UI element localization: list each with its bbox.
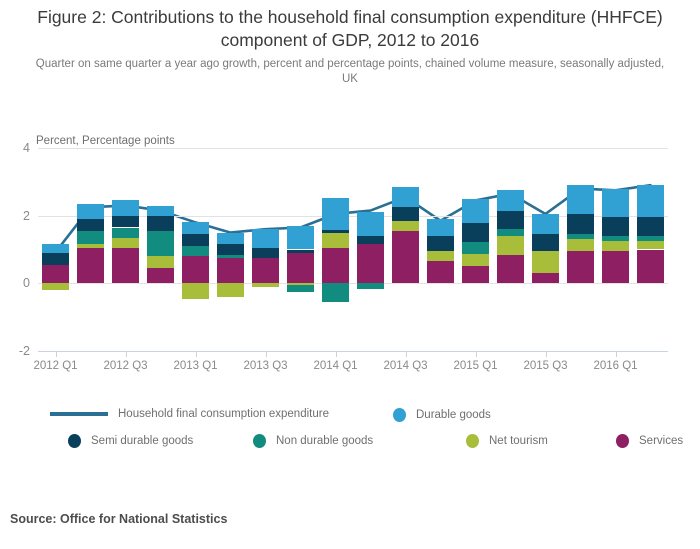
bar-segment: [497, 211, 524, 230]
legend-item[interactable]: Services: [616, 434, 683, 448]
bar-segment: [147, 206, 174, 216]
bar-segment: [147, 268, 174, 283]
bar-segment: [182, 222, 209, 234]
legend-label: Household final consumption expenditure: [118, 408, 329, 420]
bar-segment: [322, 230, 349, 233]
bar-segment: [112, 200, 139, 215]
bar-column[interactable]: [77, 148, 104, 351]
bar-segment: [42, 244, 69, 252]
bar-segment: [567, 214, 594, 234]
x-tick-mark: [56, 351, 57, 357]
bar-segment: [77, 231, 104, 245]
bar-segment: [322, 283, 349, 302]
bar-segment: [147, 216, 174, 231]
bar-segment: [567, 239, 594, 251]
x-tick-mark: [406, 351, 407, 357]
bar-segment: [112, 228, 139, 238]
bar-column[interactable]: [567, 148, 594, 351]
legend-dot-swatch-icon: [393, 408, 406, 422]
legend-label: Net tourism: [489, 435, 548, 447]
x-tick-label: 2014 Q3: [383, 360, 427, 372]
bar-segment: [532, 251, 559, 273]
bar-column[interactable]: [602, 148, 629, 351]
bar-segment: [252, 248, 279, 258]
bar-segment: [112, 216, 139, 228]
bar-segment: [112, 248, 139, 284]
legend-item[interactable]: Durable goods: [393, 408, 491, 422]
x-tick-label: 2014 Q1: [313, 360, 357, 372]
bar-segment: [147, 256, 174, 268]
bar-segment: [427, 219, 454, 236]
legend-item[interactable]: Semi durable goods: [68, 434, 193, 448]
chart-subtitle: Quarter on same quarter a year ago growt…: [30, 57, 670, 87]
y-tick-label: 2: [6, 210, 30, 222]
bar-segment: [497, 236, 524, 255]
bar-segment: [182, 256, 209, 283]
bar-segment: [497, 255, 524, 284]
source-note: Source: Office for National Statistics: [10, 512, 227, 526]
legend-label: Semi durable goods: [91, 435, 193, 447]
bar-segment: [42, 253, 69, 265]
legend-dot-swatch-icon: [68, 434, 81, 448]
legend-item[interactable]: Household final consumption expenditure: [50, 408, 329, 420]
bar-column[interactable]: [392, 148, 419, 351]
bar-segment: [322, 233, 349, 248]
bar-segment: [392, 221, 419, 231]
legend-label: Non durable goods: [276, 435, 373, 447]
bar-segment: [287, 226, 314, 250]
bar-segment: [602, 241, 629, 251]
bar-segment: [217, 244, 244, 255]
bar-segment: [602, 236, 629, 241]
x-tick-mark: [616, 351, 617, 357]
bar-segment: [567, 185, 594, 214]
legend-line-swatch-icon: [50, 412, 108, 416]
bar-segment: [602, 217, 629, 236]
bar-column[interactable]: [252, 148, 279, 351]
bar-segment: [357, 236, 384, 244]
bar-segment: [112, 238, 139, 248]
bar-segment: [462, 199, 489, 223]
bar-segment: [567, 251, 594, 283]
bar-column[interactable]: [497, 148, 524, 351]
bar-segment: [392, 207, 419, 221]
legend-item[interactable]: Net tourism: [466, 434, 548, 448]
bar-segment: [252, 258, 279, 283]
y-axis-units-label: Percent, Percentage points: [36, 135, 175, 147]
x-tick-mark: [126, 351, 127, 357]
bar-segment: [602, 251, 629, 283]
bar-segment: [637, 185, 664, 217]
x-tick-label: 2015 Q1: [453, 360, 497, 372]
bar-column[interactable]: [112, 148, 139, 351]
bar-segment: [637, 250, 664, 284]
bar-segment: [427, 251, 454, 261]
chart-title: Figure 2: Contributions to the household…: [0, 6, 700, 52]
bar-column[interactable]: [322, 148, 349, 351]
bar-segment: [392, 187, 419, 207]
bar-segment: [532, 234, 559, 251]
bar-column[interactable]: [357, 148, 384, 351]
bar-column[interactable]: [637, 148, 664, 351]
bar-segment: [637, 236, 664, 241]
bar-segment: [392, 231, 419, 283]
x-tick-mark: [196, 351, 197, 357]
bar-segment: [287, 285, 314, 292]
bar-column[interactable]: [182, 148, 209, 351]
bar-column[interactable]: [427, 148, 454, 351]
bar-segment: [357, 283, 384, 289]
bar-segment: [567, 234, 594, 239]
bar-segment: [77, 244, 104, 247]
bar-segment: [182, 283, 209, 298]
bar-segment: [427, 261, 454, 283]
bar-segment: [602, 189, 629, 218]
bar-segment: [637, 217, 664, 236]
bar-column[interactable]: [532, 148, 559, 351]
bar-segment: [252, 229, 279, 248]
x-tick-label: 2016 Q1: [593, 360, 637, 372]
bar-segment: [217, 283, 244, 297]
bar-segment: [147, 231, 174, 256]
bar-segment: [462, 242, 489, 254]
y-tick-label: -2: [6, 345, 30, 357]
x-tick-mark: [546, 351, 547, 357]
x-tick-mark: [266, 351, 267, 357]
bar-segment: [287, 253, 314, 283]
bar-column[interactable]: [147, 148, 174, 351]
bar-segment: [77, 248, 104, 284]
chart-legend: Household final consumption expenditureD…: [38, 404, 678, 456]
bar-column[interactable]: [42, 148, 69, 351]
bar-segment: [462, 254, 489, 267]
bar-segment: [462, 266, 489, 283]
bar-segment: [462, 223, 489, 242]
bar-column[interactable]: [287, 148, 314, 351]
legend-item[interactable]: Non durable goods: [253, 434, 373, 448]
bar-segment: [182, 246, 209, 256]
bar-column[interactable]: [217, 148, 244, 351]
legend-dot-swatch-icon: [616, 434, 629, 448]
x-axis-line: [38, 351, 668, 352]
bar-segment: [217, 255, 244, 258]
hhfce-line-path: [56, 185, 651, 252]
x-tick-label: 2013 Q3: [243, 360, 287, 372]
bar-segment: [532, 214, 559, 234]
bar-segment: [357, 212, 384, 236]
bar-segment: [42, 265, 69, 284]
bar-segment: [322, 198, 349, 230]
plot-area: 2012 Q12012 Q32013 Q12013 Q32014 Q12014 …: [38, 148, 668, 351]
bar-segment: [357, 244, 384, 283]
bar-segment: [77, 219, 104, 231]
bar-segment: [42, 283, 69, 290]
bar-segment: [77, 204, 104, 219]
bar-segment: [637, 241, 664, 249]
bar-segment: [322, 248, 349, 284]
bar-segment: [252, 283, 279, 287]
x-tick-mark: [476, 351, 477, 357]
figure-container: Figure 2: Contributions to the household…: [0, 0, 700, 549]
legend-label: Services: [639, 435, 683, 447]
bar-segment: [497, 229, 524, 236]
bar-segment: [217, 258, 244, 283]
x-tick-label: 2015 Q3: [523, 360, 567, 372]
x-tick-label: 2012 Q3: [103, 360, 147, 372]
x-tick-label: 2013 Q1: [173, 360, 217, 372]
bar-column[interactable]: [462, 148, 489, 351]
bar-segment: [287, 250, 314, 253]
bar-segment: [182, 234, 209, 246]
bar-segment: [532, 273, 559, 283]
legend-label: Durable goods: [416, 409, 491, 421]
x-tick-label: 2012 Q1: [33, 360, 77, 372]
legend-dot-swatch-icon: [253, 434, 266, 448]
bar-segment: [427, 236, 454, 251]
bar-segment: [217, 233, 244, 245]
x-tick-mark: [336, 351, 337, 357]
legend-dot-swatch-icon: [466, 434, 479, 448]
y-tick-label: 0: [6, 277, 30, 289]
y-tick-label: 4: [6, 142, 30, 154]
bar-segment: [497, 190, 524, 210]
